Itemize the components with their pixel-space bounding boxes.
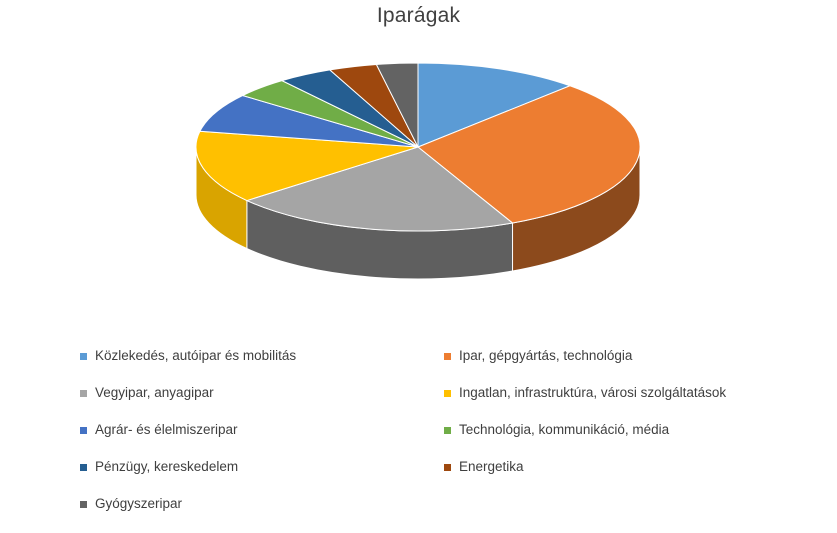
legend-swatch-icon [80, 501, 87, 508]
legend-swatch-icon [444, 464, 451, 471]
pie-plot-area [0, 38, 837, 334]
legend-item-label: Agrár- és élelmiszeripar [95, 422, 238, 437]
legend-swatch-icon [444, 353, 451, 360]
legend-swatch-icon [444, 427, 451, 434]
chart-title: Iparágak [0, 4, 837, 28]
legend-swatch-icon [444, 390, 451, 397]
legend-item[interactable]: Energetika [427, 459, 807, 474]
legend-item[interactable]: Pénzügy, kereskedelem [72, 459, 427, 474]
legend-item[interactable]: Közlekedés, autóipar és mobilitás [72, 348, 427, 363]
legend-row: Gyógyszeripar [72, 496, 812, 533]
legend-item-label: Ingatlan, infrastruktúra, városi szolgál… [459, 385, 726, 400]
legend-item[interactable]: Agrár- és élelmiszeripar [72, 422, 427, 437]
chart-legend: Közlekedés, autóipar és mobilitásIpar, g… [72, 348, 812, 508]
pie-svg [0, 38, 837, 334]
legend-item-label: Ipar, gépgyártás, technológia [459, 348, 632, 363]
legend-item-label: Gyógyszeripar [95, 496, 182, 511]
legend-item-label: Technológia, kommunikáció, média [459, 422, 669, 437]
legend-item[interactable]: Ipar, gépgyártás, technológia [427, 348, 807, 363]
pie-top-faces [196, 63, 640, 231]
legend-item-label: Energetika [459, 459, 524, 474]
legend-row: Agrár- és élelmiszeriparTechnológia, kom… [72, 422, 812, 459]
legend-item[interactable]: Gyógyszeripar [72, 496, 427, 511]
legend-item-label: Vegyipar, anyagipar [95, 385, 214, 400]
legend-swatch-icon [80, 464, 87, 471]
legend-row: Pénzügy, kereskedelemEnergetika [72, 459, 812, 496]
legend-item[interactable]: Ingatlan, infrastruktúra, városi szolgál… [427, 385, 807, 400]
legend-row: Közlekedés, autóipar és mobilitásIpar, g… [72, 348, 812, 385]
legend-swatch-icon [80, 353, 87, 360]
legend-item[interactable]: Vegyipar, anyagipar [72, 385, 427, 400]
legend-swatch-icon [80, 390, 87, 397]
legend-swatch-icon [80, 427, 87, 434]
legend-row: Vegyipar, anyagiparIngatlan, infrastrukt… [72, 385, 812, 422]
legend-item[interactable]: Technológia, kommunikáció, média [427, 422, 807, 437]
pie-chart-figure: Iparágak Közlekedés, autóipar és mobilit… [0, 0, 837, 514]
legend-item-label: Közlekedés, autóipar és mobilitás [95, 348, 296, 363]
legend-item-label: Pénzügy, kereskedelem [95, 459, 238, 474]
